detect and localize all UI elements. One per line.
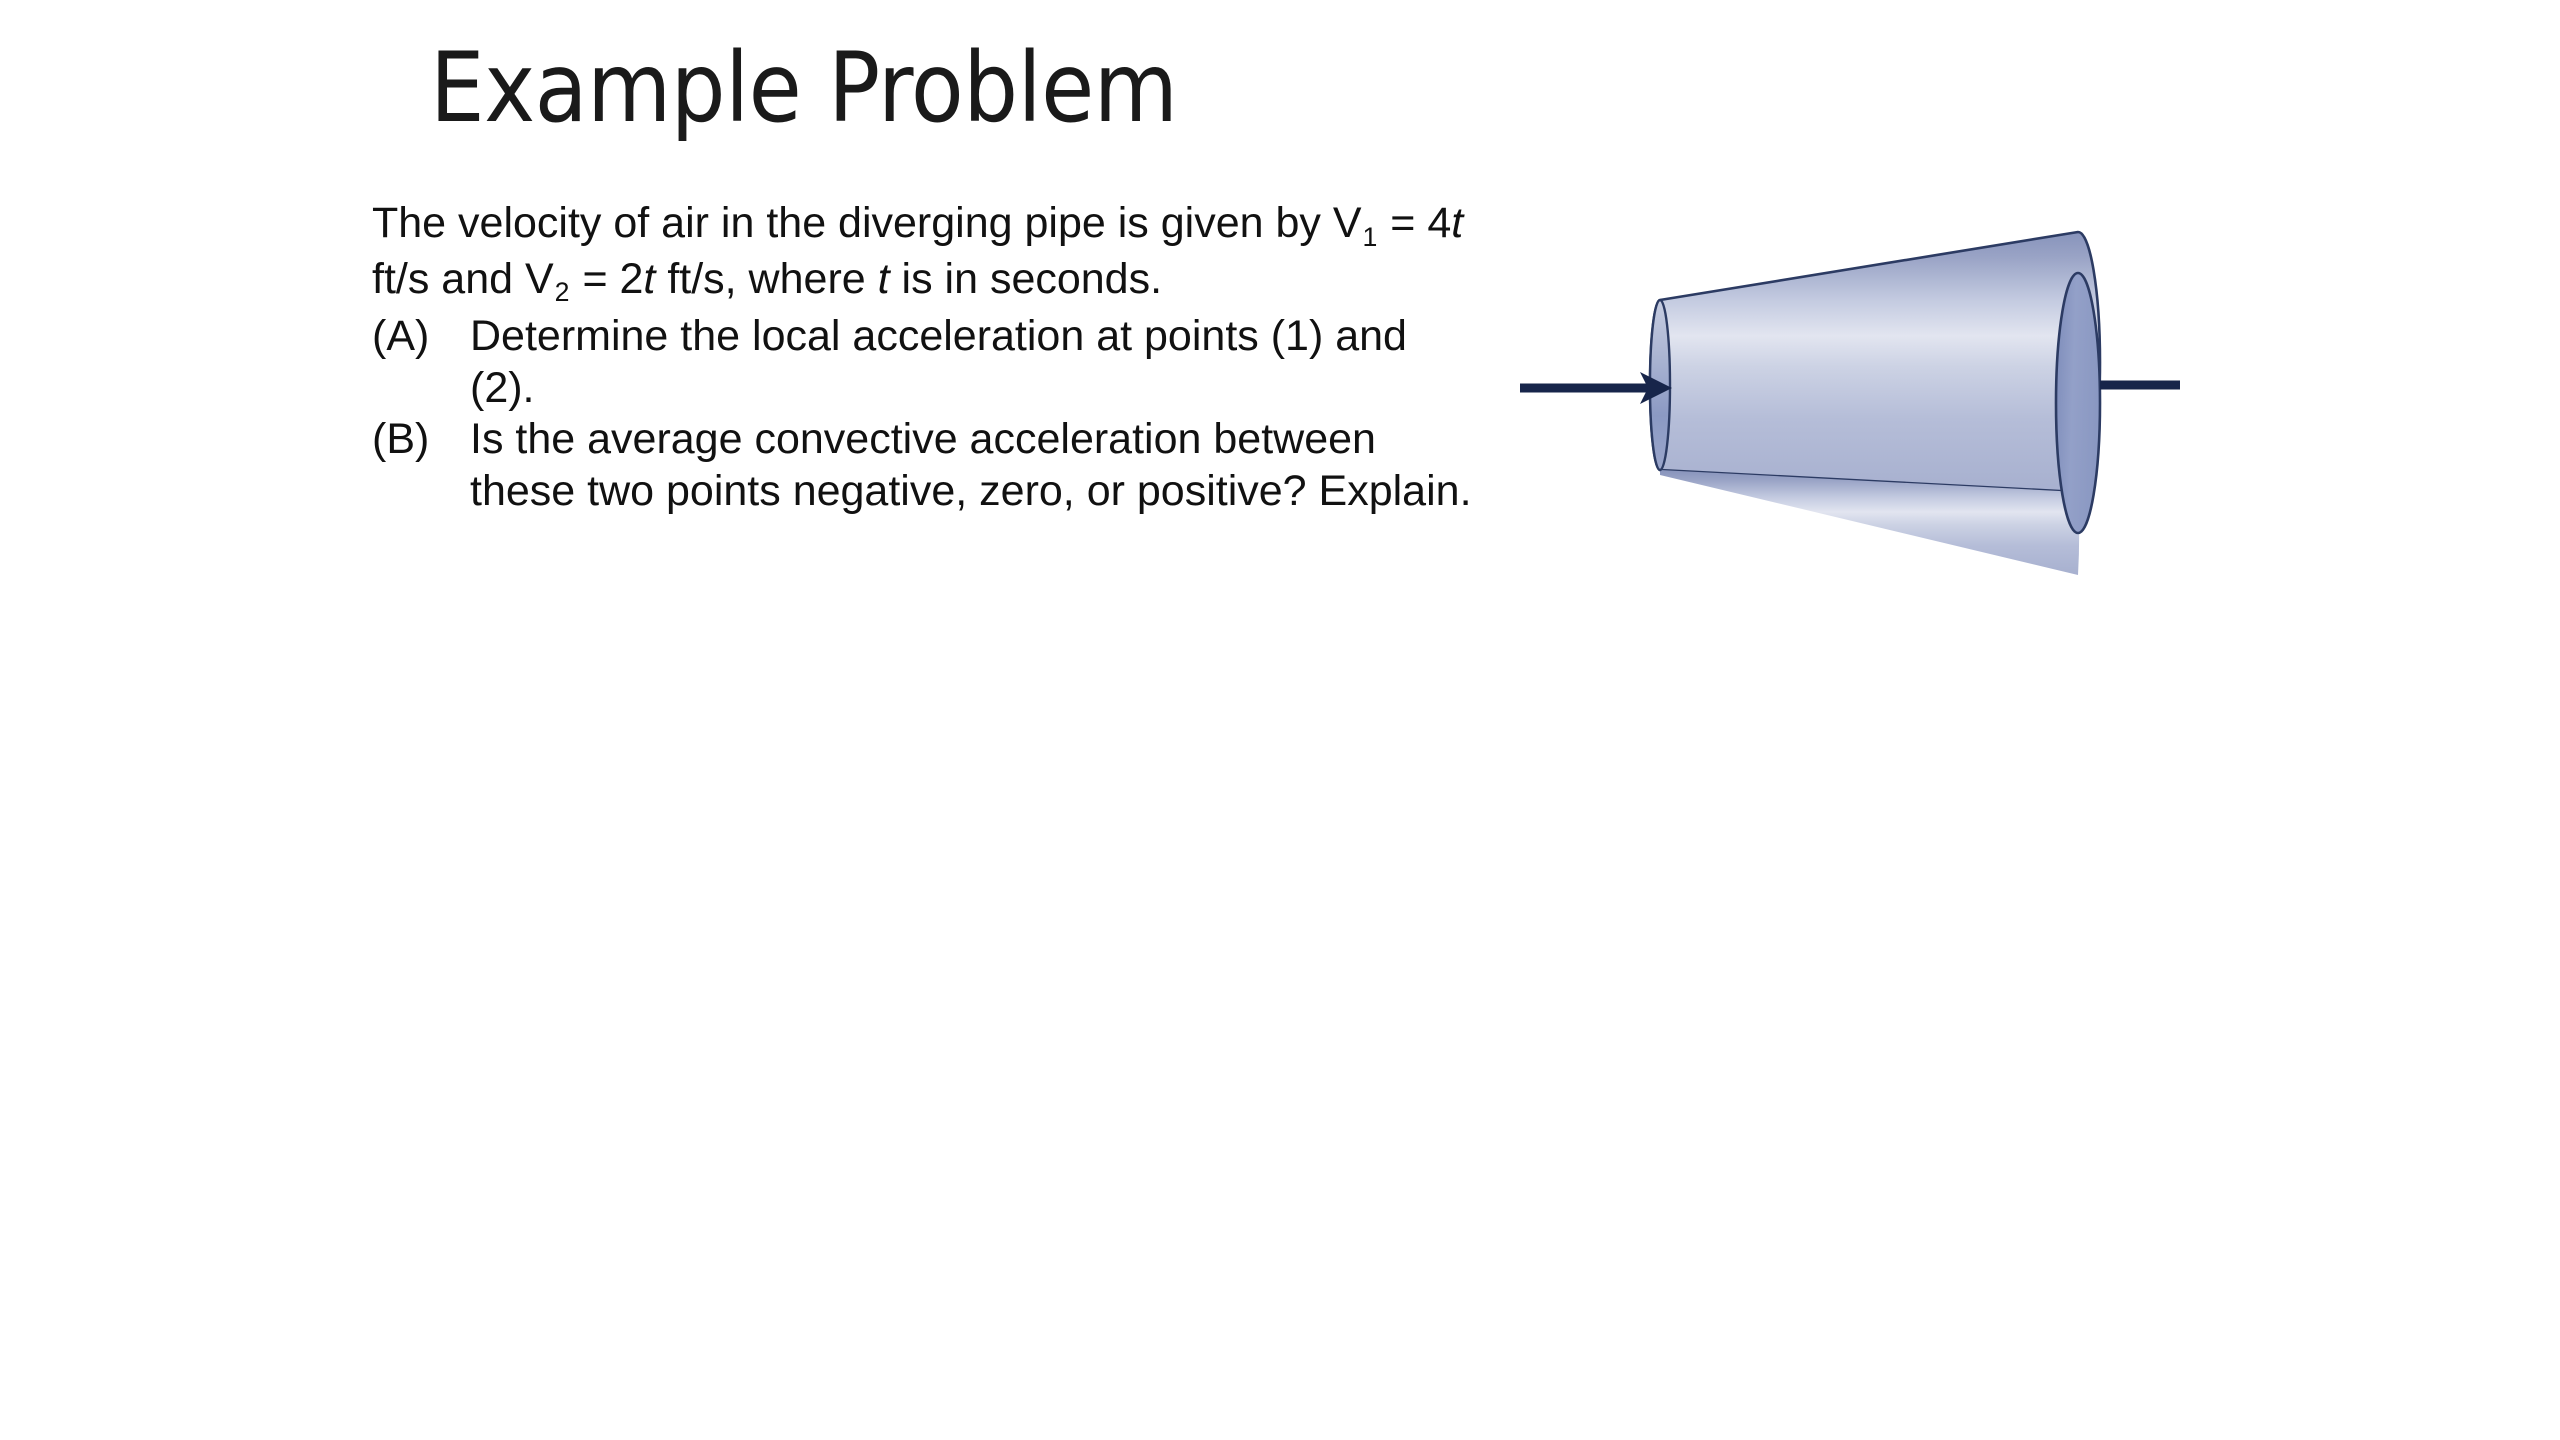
list-marker-b: (B) [372,414,470,466]
pipe-outlet-cap [2056,273,2100,533]
page-title: Example Problem [430,38,2030,140]
list-item: (A) Determine the local acceleration at … [372,311,1472,414]
intro-text-1: The velocity of air in the diverging pip… [372,199,1362,247]
intro-text-2: = 4 [1378,199,1451,247]
slide-canvas: Example Problem The velocity of air in t… [0,0,2560,1440]
list-text-a: Determine the local acceleration at poin… [470,311,1472,414]
problem-statement-block: The velocity of air in the diverging pip… [372,198,1472,517]
intro-italic-t-3: t [878,255,890,303]
intro-subscript-2: 2 [554,277,571,307]
diverging-pipe-figure: V1 = 4t ft/s V2 = 2t ft/s (1) (2) Figure… [1480,190,2180,650]
pipe-body [1650,232,2100,492]
intro-paragraph: The velocity of air in the diverging pip… [372,198,1472,309]
outlet-flow-arrow [2100,369,2180,401]
list-item: (B) Is the average convective accelerati… [372,414,1472,517]
intro-text-5: ft/s, where [655,255,877,303]
list-text-b: Is the average convective acceleration b… [470,414,1472,517]
intro-subscript-1: 1 [1362,222,1379,252]
intro-italic-t-1: t [1451,199,1463,247]
inlet-flow-arrow [1520,372,1672,404]
pipe-diagram-svg [1480,190,2180,650]
intro-text-6: is in seconds. [890,255,1162,303]
list-marker-a: (A) [372,311,470,363]
intro-text-3: ft/s and V [372,255,554,303]
intro-text-4: = 2 [571,255,644,303]
intro-italic-t-2: t [643,255,655,303]
